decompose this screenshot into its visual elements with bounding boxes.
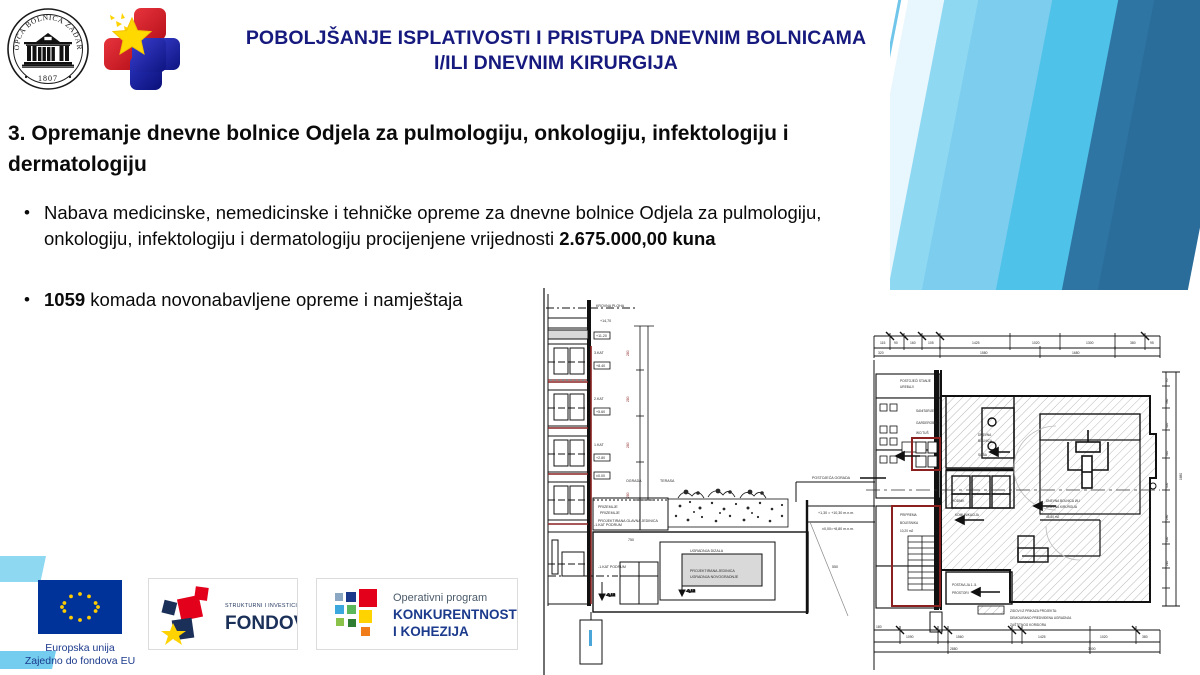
band-cyan [986,0,1175,290]
svg-text:UGRADNJA DIZALA: UGRADNJA DIZALA [690,549,724,553]
bullet-text: Nabava medicinske, nemedicinske i tehnič… [44,200,890,251]
svg-text:+1,30 = +10,30 m.n.m.: +1,30 = +10,30 m.n.m. [818,511,854,515]
svg-text:1807: 1807 [38,74,58,83]
svg-text:+8.40: +8.40 [596,364,605,368]
svg-text:320: 320 [878,351,884,355]
svg-text:-1.KAT PODRUM: -1.KAT PODRUM [594,523,622,527]
medical-cross-logo [96,4,186,94]
svg-text:DEMOLIRANO PREDVIĐENA UGRADNJA: DEMOLIRANO PREDVIĐENA UGRADNJA [1010,616,1072,620]
svg-text:HODNIK: HODNIK [952,499,965,503]
svg-text:POSTOJEĆA OGRADA: POSTOJEĆA OGRADA [812,475,851,480]
opkk-line-1: Operativni program [393,592,487,604]
svg-text:1.KAT: 1.KAT [594,443,605,447]
eu-caption-line-1: Europska unija [24,642,136,655]
svg-text:380: 380 [1165,398,1169,404]
svg-text:BOLNICA: BOLNICA [978,439,993,443]
svg-text:-0,12: -0,12 [606,592,616,597]
bullet-marker-icon: • [10,200,44,226]
svg-text:1425: 1425 [972,341,980,345]
svg-text:290: 290 [1165,514,1169,520]
svg-text:UREĐAJI: UREĐAJI [900,385,914,389]
svg-text:POSTOJEĆI STANJE: POSTOJEĆI STANJE [900,378,931,383]
decorative-diagonal-bands [890,0,1200,290]
svg-text:+5.60: +5.60 [596,410,605,414]
svg-text:DNEVNA BOLNICA I/ILI: DNEVNA BOLNICA I/ILI [1046,499,1080,503]
svg-text:PROJEKTIRANA JEDINICA: PROJEKTIRANA JEDINICA [690,569,735,573]
architectural-section-drawing: +11.20+8.40 +5.60+2.80 ±0.00 3.KAT2.KAT … [530,286,875,675]
svg-text:1425: 1425 [1038,635,1046,639]
svg-text:1680: 1680 [1072,351,1080,355]
svg-text:KOMUNIKACIJA: KOMUNIKACIJA [955,513,980,517]
svg-text:320: 320 [1165,450,1169,456]
svg-text:KROVNA PLOHA: KROVNA PLOHA [596,304,625,308]
svg-text:1580: 1580 [980,351,988,355]
svg-text:±0,00=+8,80 m.n.m.: ±0,00=+8,80 m.n.m. [822,527,854,531]
svg-text:+14,70: +14,70 [600,319,611,323]
svg-text:280: 280 [626,350,630,356]
svg-text:750: 750 [628,538,634,542]
bullet-marker-icon: • [10,287,44,313]
svg-text:DNEVNA KIRURGIJA: DNEVNA KIRURGIJA [1046,505,1078,509]
svg-text:WC/TUŠ: WC/TUŠ [916,430,929,435]
svg-text:280: 280 [626,442,630,448]
svg-text:180: 180 [876,625,882,629]
svg-text:2880: 2880 [950,647,958,651]
eu-caption-line-2: Zajedno do fondova EU [24,655,136,668]
svg-text:210: 210 [1165,560,1169,566]
svg-text:550: 550 [832,565,838,569]
architectural-floor-plan-drawing: 11590160 10514251020 130038095 320158016… [860,330,1200,675]
svg-text:3.KAT: 3.KAT [594,351,605,355]
svg-text:450: 450 [1165,482,1169,488]
svg-text:PRIZEMLJE: PRIZEMLJE [600,511,620,515]
svg-text:380: 380 [1142,635,1148,639]
fondovi-small-text: STRUKTURNI I INVESTICIJSKI [225,603,297,609]
slide-title: POBOLJŠANJE ISPLATIVOSTI I PRISTUPA DNEV… [196,26,916,76]
svg-text:SANITARIJE: SANITARIJE [916,409,934,413]
svg-text:280: 280 [626,492,630,498]
svg-text:PRIZEMLJE: PRIZEMLJE [598,505,618,509]
list-item: • Nabava medicinske, nemedicinske i tehn… [10,200,890,251]
band-dark-blue [1088,0,1200,290]
title-line-2: I/ILI DNEVNIM KIRURGIJA [196,51,916,76]
svg-text:-0,12: -0,12 [686,588,696,593]
bullet-count: 1059 [44,289,85,310]
title-line-1: POBOLJŠANJE ISPLATIVOSTI I PRISTUPA DNEV… [196,26,916,51]
bullet-amount: 2.675.000,00 kuna [559,228,715,249]
accent-shape-upper [0,556,46,582]
svg-text:380: 380 [1130,341,1136,345]
svg-text:DNEVNA: DNEVNA [978,433,992,437]
svg-text:PROSTORI: PROSTORI [952,591,969,595]
svg-text:10,20 m2: 10,20 m2 [900,529,914,533]
band-steel-blue [1052,0,1178,290]
svg-text:PROJEKTIRANA GLAVNA JEDINICA: PROJEKTIRANA GLAVNA JEDINICA [598,519,658,523]
svg-text:160: 160 [1165,536,1169,542]
svg-text:+11.20: +11.20 [596,334,607,338]
svg-text:UGRADNJA NOVOGRADNJE: UGRADNJA NOVOGRADNJE [690,575,739,579]
svg-text:115: 115 [880,341,886,345]
svg-text:+2.80: +2.80 [596,456,605,460]
bullet-text-after: komada novonabavljene opreme i namještaj… [85,289,462,310]
opkk-line-2: KONKURENTNOST [393,607,517,622]
svg-text:3500: 3500 [1088,647,1096,651]
svg-text:420: 420 [1165,422,1169,428]
svg-text:PRIPREMA: PRIPREMA [900,513,918,517]
eu-flag-logo: Europska unija Zajedno do fondova EU [24,580,136,668]
presentation-slide: OPĆA BOLNICA ZADAR 1807 [0,0,1200,675]
svg-text:1560: 1560 [956,635,964,639]
svg-text:-1.KAT PODRUM: -1.KAT PODRUM [598,565,626,569]
svg-text:46,80 m2: 46,80 m2 [1046,515,1060,519]
eu-flag-icon [38,580,122,634]
svg-text:1680: 1680 [1179,473,1183,480]
svg-text:POSTAVLJA 1.-5.: POSTAVLJA 1.-5. [952,583,977,587]
svg-text:1020: 1020 [1032,341,1040,345]
svg-text:95: 95 [1150,341,1154,345]
opkk-line-3: I KOHEZIJA [393,624,469,639]
svg-text:SOBA: SOBA [978,453,988,457]
svg-text:BOLESNIKA: BOLESNIKA [900,521,919,525]
svg-text:GARDEROBA: GARDEROBA [916,421,937,425]
svg-text:160: 160 [910,341,916,345]
band-mid-blue [912,0,1136,290]
svg-text:105: 105 [928,341,934,345]
svg-text:±0.00: ±0.00 [596,474,605,478]
svg-text:1090: 1090 [906,635,914,639]
svg-text:ZAŠTITNOG KORIDORA: ZAŠTITNOG KORIDORA [1010,622,1047,627]
svg-text:95: 95 [1165,378,1169,382]
operativni-program-logo: Operativni program KONKURENTNOST I KOHEZ… [316,578,518,650]
svg-text:1020: 1020 [1100,635,1108,639]
svg-text:1300: 1300 [1086,341,1094,345]
fondovi-logo: STRUKTURNI I INVESTICIJSKI FONDOVI [148,578,298,650]
svg-text:ZIDOVI IZ PRIKAZA PROJEKTA:: ZIDOVI IZ PRIKAZA PROJEKTA: [1010,609,1057,613]
hospital-seal-logo: OPĆA BOLNICA ZADAR 1807 [6,6,90,92]
svg-text:90: 90 [894,341,898,345]
svg-text:TERASA: TERASA [660,479,675,483]
section-heading: 3. Opremanje dnevne bolnice Odjela za pu… [8,118,808,180]
svg-text:2.KAT: 2.KAT [594,397,605,401]
fondovi-big-text: FONDOVI [225,613,297,634]
svg-text:280: 280 [626,396,630,402]
